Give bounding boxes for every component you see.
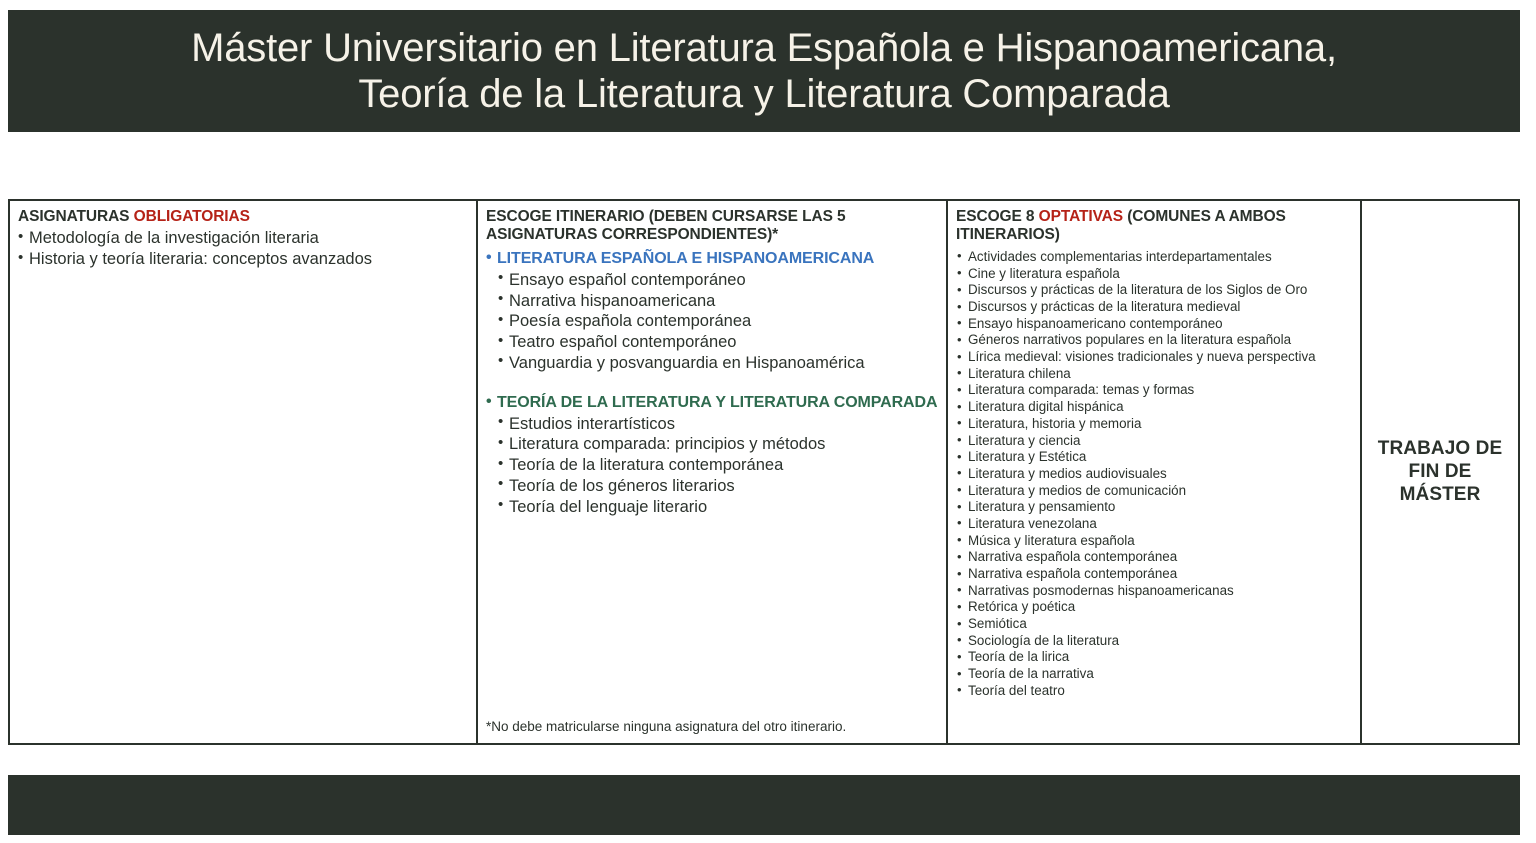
list-item: Narrativa española contemporánea [956, 566, 1352, 583]
list-item: Literatura venezolana [956, 516, 1352, 533]
list-item: Discursos y prácticas de la literatura m… [956, 299, 1352, 316]
list-item: Ensayo español contemporáneo [498, 270, 938, 291]
itinerary-title-literatura-espanola: LITERATURA ESPAÑOLA E HISPANOAMERICANA [486, 250, 938, 269]
list-item: Cine y literatura española [956, 266, 1352, 283]
page-title: Máster Universitario en Literatura Españ… [191, 25, 1337, 118]
list-item: Narrativa hispanoamericana [498, 291, 938, 312]
list-item: Literatura, historia y memoria [956, 416, 1352, 433]
list-item: Música y literatura española [956, 533, 1352, 550]
list-item: Literatura y Estética [956, 449, 1352, 466]
list-item: Literatura y ciencia [956, 433, 1352, 450]
itinerary-group-literatura-espanola: LITERATURA ESPAÑOLA E HISPANOAMERICANA E… [486, 250, 938, 374]
column-asignaturas-obligatorias: ASIGNATURAS OBLIGATORIAS Metodología de … [10, 201, 476, 743]
page-header-banner: Máster Universitario en Literatura Españ… [8, 10, 1520, 132]
list-item: Teoría del teatro [956, 683, 1352, 700]
list-item: Géneros narrativos populares en la liter… [956, 332, 1352, 349]
list-item: Vanguardia y posvanguardia en Hispanoamé… [498, 353, 938, 374]
list-item: Teoría de la literatura contemporánea [498, 455, 938, 476]
list-item: Literatura y medios audiovisuales [956, 466, 1352, 483]
heading-itinerario: ESCOGE ITINERARIO (DEBEN CURSARSE LAS 5 … [486, 208, 938, 244]
itinerary-footnote: *No debe matricularse ninguna asignatura… [486, 719, 938, 737]
list-item: Poesía española contemporánea [498, 311, 938, 332]
list-item: Sociología de la literatura [956, 633, 1352, 650]
column-trabajo-fin-de-master: TRABAJO DE FIN DE MÁSTER [1360, 201, 1518, 743]
list-item: Literatura digital hispánica [956, 399, 1352, 416]
list-itinerary-teoria-literatura: Estudios interartísticos Literatura comp… [486, 414, 938, 518]
list-optativas: Actividades complementarias interdeparta… [956, 249, 1352, 700]
list-item: Retórica y poética [956, 599, 1352, 616]
tfm-label: TRABAJO DE FIN DE MÁSTER [1378, 438, 1503, 506]
itinerary-title-teoria-literatura: TEORÍA DE LA LITERATURA Y LITERATURA COM… [486, 394, 938, 413]
list-item: Historia y teoría literaria: conceptos a… [18, 249, 468, 270]
list-item: Literatura y pensamiento [956, 499, 1352, 516]
list-obligatorias: Metodología de la investigación literari… [18, 228, 468, 270]
column-escoge-itinerario: ESCOGE ITINERARIO (DEBEN CURSARSE LAS 5 … [476, 201, 946, 743]
list-item: Literatura y medios de comunicación [956, 483, 1352, 500]
list-item: Semiótica [956, 616, 1352, 633]
page-footer-banner [8, 775, 1520, 835]
list-item: Metodología de la investigación literari… [18, 228, 468, 249]
list-item: Teoría de los géneros literarios [498, 476, 938, 497]
heading-obligatorias-prefix: ASIGNATURAS [18, 208, 134, 225]
list-item: Narrativas posmodernas hispanoamericanas [956, 583, 1352, 600]
column-escoge-optativas: ESCOGE 8 OPTATIVAS (COMUNES A AMBOS ITIN… [946, 201, 1360, 743]
list-item: Lírica medieval: visiones tradicionales … [956, 349, 1352, 366]
list-item: Discursos y prácticas de la literatura d… [956, 282, 1352, 299]
heading-obligatorias-accent: OBLIGATORIAS [134, 208, 250, 225]
heading-optativas: ESCOGE 8 OPTATIVAS (COMUNES A AMBOS ITIN… [956, 208, 1352, 244]
itinerary-group-teoria-literatura: TEORÍA DE LA LITERATURA Y LITERATURA COM… [486, 394, 938, 518]
list-item: Literatura comparada: temas y formas [956, 382, 1352, 399]
heading-obligatorias: ASIGNATURAS OBLIGATORIAS [18, 208, 468, 226]
list-item: Teoría de la narrativa [956, 666, 1352, 683]
heading-optativas-accent: OPTATIVAS [1039, 208, 1123, 225]
list-item: Narrativa española contemporánea [956, 549, 1352, 566]
study-plan-table: ASIGNATURAS OBLIGATORIAS Metodología de … [8, 199, 1520, 745]
list-item: Teatro español contemporáneo [498, 332, 938, 353]
list-item: Estudios interartísticos [498, 414, 938, 435]
list-itinerary-literatura-espanola: Ensayo español contemporáneo Narrativa h… [486, 270, 938, 374]
list-item: Teoría de la lirica [956, 649, 1352, 666]
list-item: Literatura chilena [956, 366, 1352, 383]
heading-optativas-prefix: ESCOGE 8 [956, 208, 1039, 225]
list-item: Ensayo hispanoamericano contemporáneo [956, 316, 1352, 333]
list-item: Literatura comparada: principios y métod… [498, 434, 938, 455]
list-item: Actividades complementarias interdeparta… [956, 249, 1352, 266]
list-item: Teoría del lenguaje literario [498, 497, 938, 518]
